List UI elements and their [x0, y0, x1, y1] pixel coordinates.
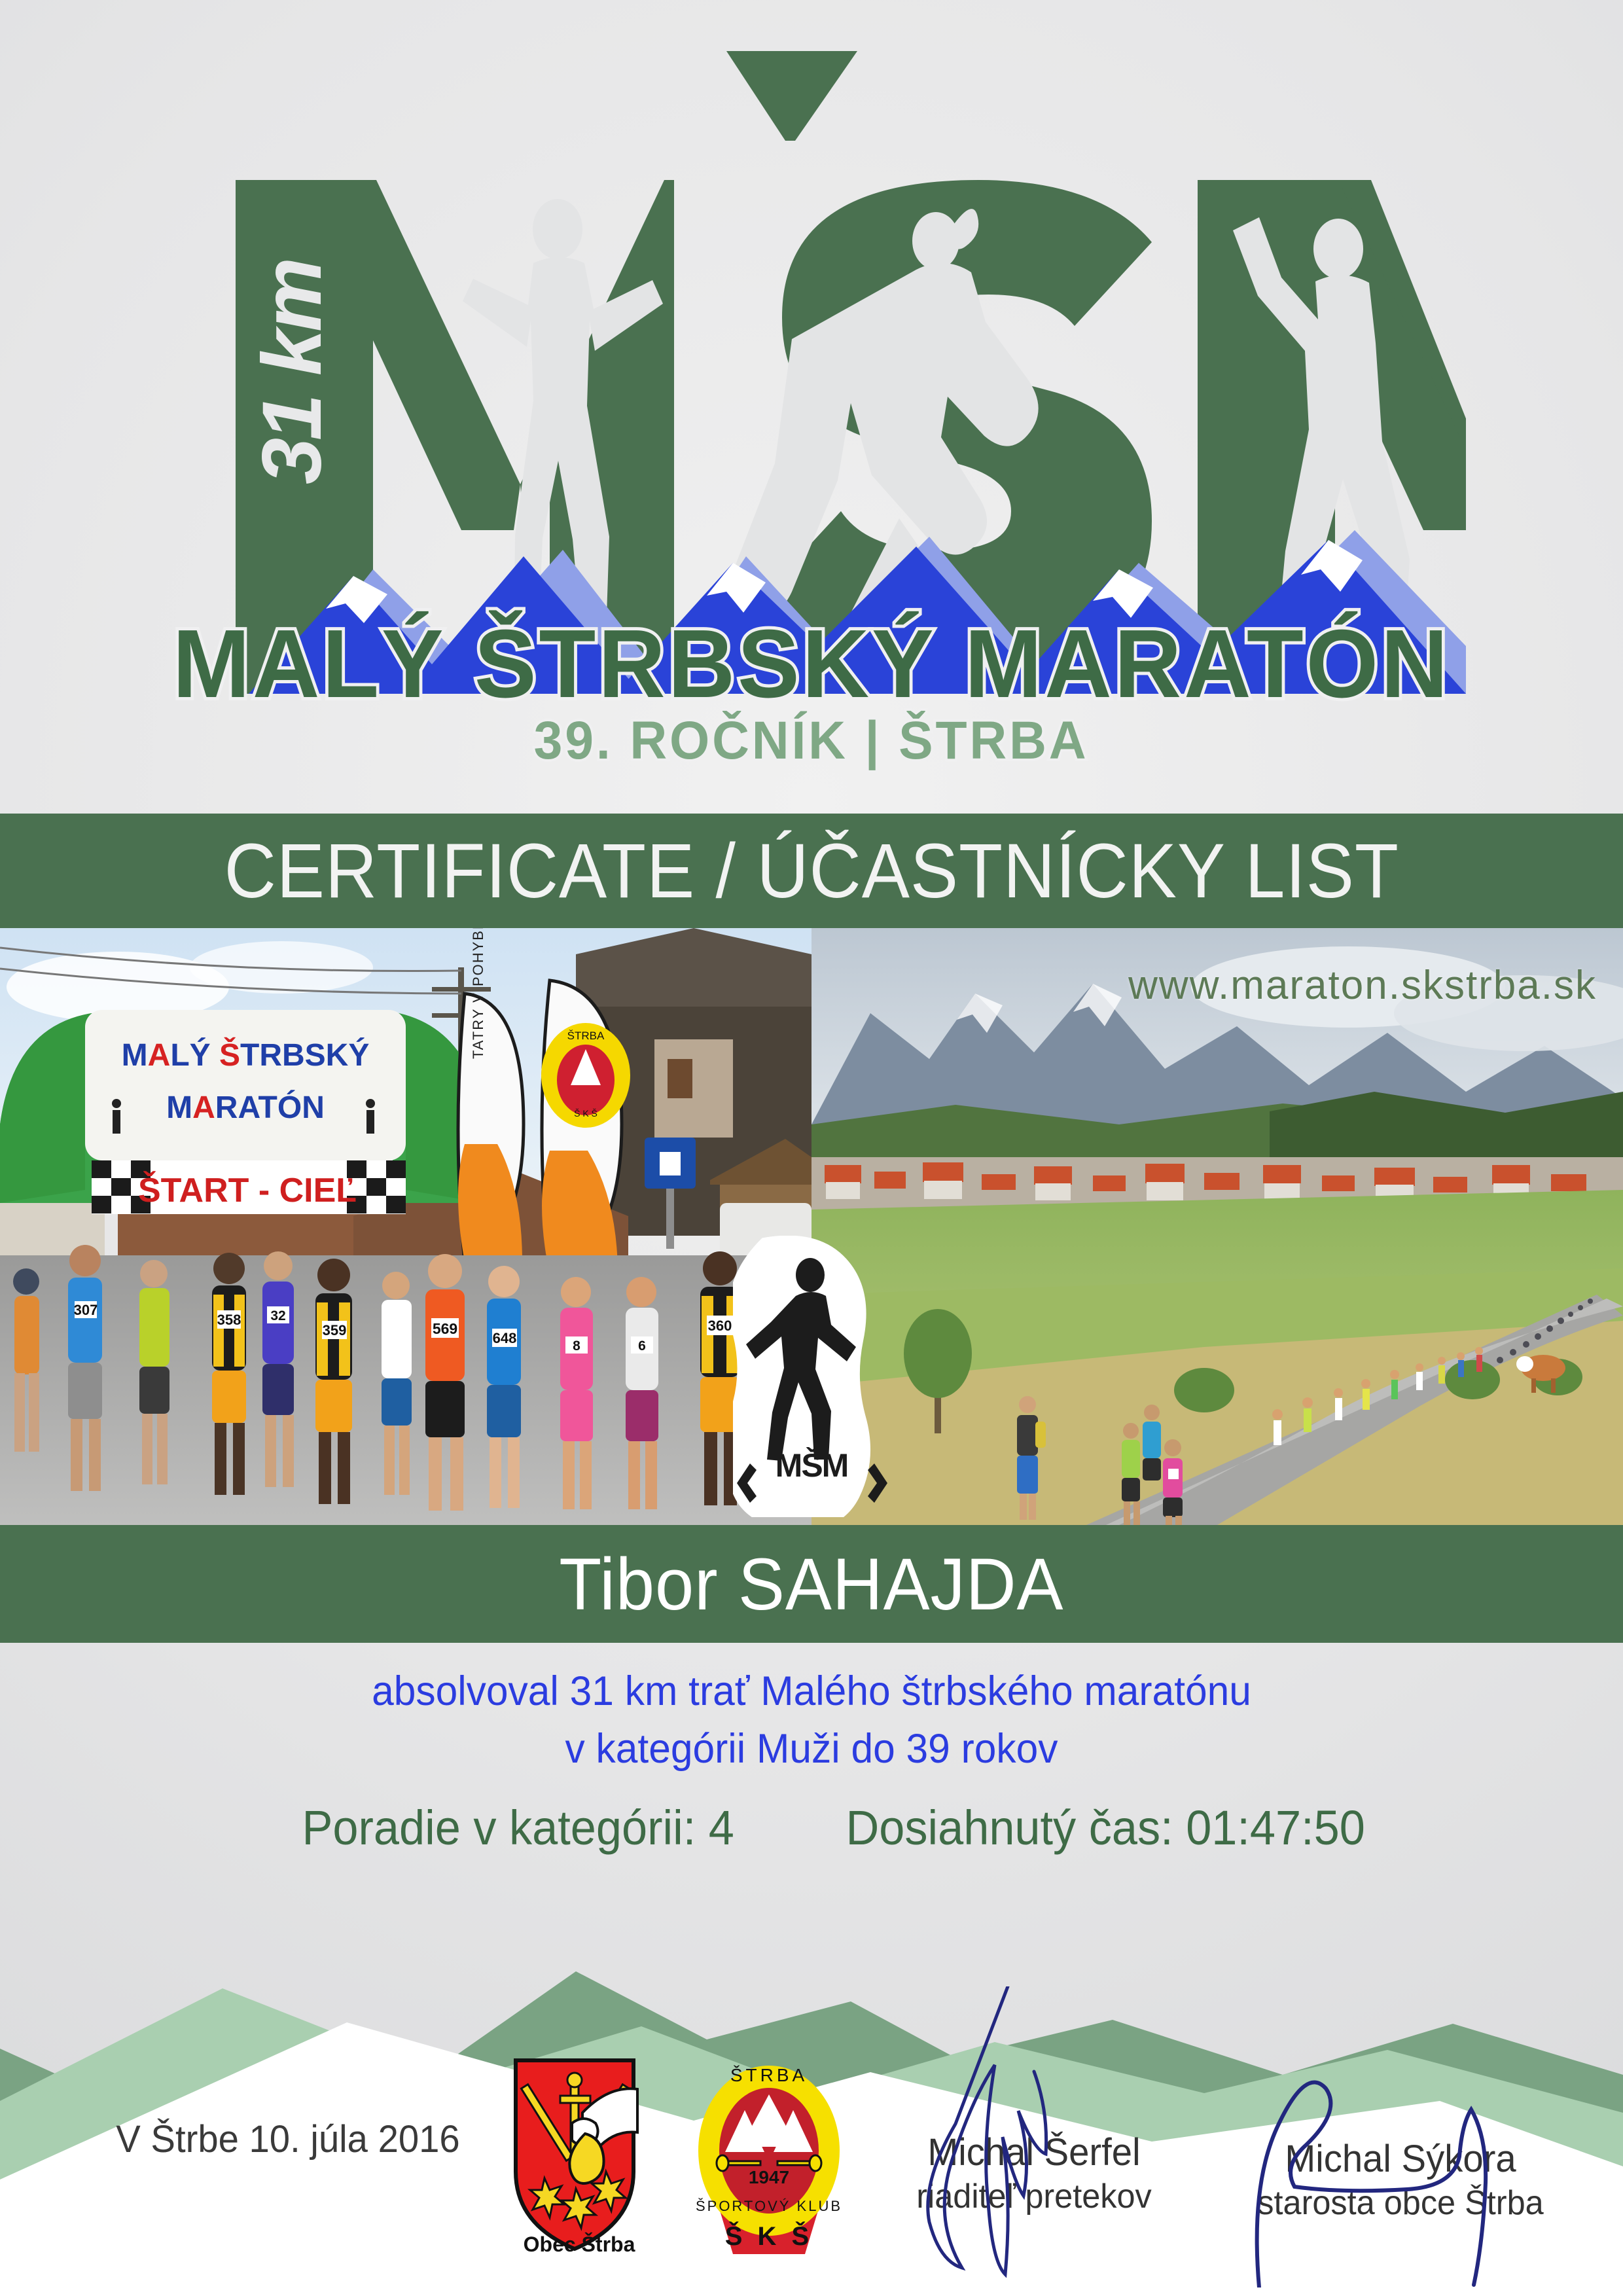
participant-name-band: Tibor SAHAJDA [0, 1525, 1623, 1643]
foreground-runner-blue [1143, 1405, 1161, 1480]
club-top-text: ŠTRBA [730, 2065, 808, 2085]
website-url: www.maraton.skstrba.sk [1128, 962, 1597, 1009]
bib-number: 569 [433, 1320, 457, 1337]
club-ring-text: ŠPORTOVÝ KLUB [696, 2198, 842, 2214]
event-name: MALÝ ŠTRBSKÝ MARATÓN [0, 609, 1623, 720]
arch-line1: MALÝ ŠTRBSKÝ [122, 1037, 370, 1073]
bib-number: 32 [270, 1308, 285, 1323]
svg-text:TATRY V POHYBE: TATRY V POHYBE [470, 928, 486, 1059]
bib-number: 6 [638, 1338, 646, 1354]
bib-number: 8 [573, 1338, 580, 1354]
signatory-role: riaditeľ pretekov [856, 2175, 1211, 2218]
detail-line-1: absolvoval 31 km trať Malého štrbského m… [33, 1662, 1591, 1720]
edition-line: 39. ROČNÍK | ŠTRBA [0, 710, 1623, 772]
certificate-title: CERTIFICATE / ÚČASTNÍCKY LIST [224, 827, 1399, 916]
bib-number: 307 [74, 1302, 98, 1318]
rank-in-category: Poradie v kategórii: 4 [147, 1800, 743, 1856]
photo-countryside: www.maraton.skstrba.sk [811, 928, 1623, 1525]
participant-details: absolvoval 31 km trať Malého štrbského m… [0, 1662, 1623, 1778]
caron-icon [726, 51, 857, 141]
svg-text:31 km: 31 km [245, 260, 339, 484]
certificate-title-band: CERTIFICATE / ÚČASTNÍCKY LIST [0, 814, 1623, 928]
bib-number: 360 [708, 1318, 732, 1334]
crest-caption: Obec Štrba [524, 2233, 635, 2256]
finish-time: Dosiahnutý čas: 01:47:50 [777, 1800, 1474, 1856]
bib-number: 359 [323, 1322, 347, 1338]
signatory-name: Michal Sýkora [1222, 2137, 1578, 2181]
logo-block: 31 km [0, 0, 1623, 814]
participant-name: Tibor SAHAJDA [559, 1542, 1063, 1626]
start-finish-banner: ŠTART - CIEĽ [138, 1171, 357, 1210]
certificate-page: 31 km [0, 0, 1623, 2296]
svg-text:Š K Š: Š K Š [574, 1108, 597, 1119]
svg-text:ŠTRBA: ŠTRBA [567, 1030, 605, 1042]
issue-date: V Štrbe 10. júla 2016 [85, 2117, 491, 2161]
signatory-role: starosta obce Štrba [1222, 2181, 1578, 2225]
photo-strip: MALÝ ŠTRBSKÝ MARATÓN ŠTART - CIEĽ [0, 928, 1623, 1525]
club-year: 1947 [749, 2167, 789, 2187]
signature-block-mayor: Michal Sýkora starosta obce Štrba [1217, 2137, 1584, 2225]
photo-race-start: MALÝ ŠTRBSKÝ MARATÓN ŠTART - CIEĽ [0, 928, 811, 1525]
club-abbrev: Š K Š [725, 2221, 813, 2251]
event-name-text: MALÝ ŠTRBSKÝ MARATÓN [173, 609, 1451, 720]
foreground-runner-pink [1163, 1439, 1183, 1525]
arch-line2: MARATÓN [166, 1089, 325, 1125]
signatory-name: Michal Šerfel [856, 2130, 1211, 2175]
detail-line-2: v kategórii Muži do 39 rokov [33, 1720, 1591, 1778]
obec-strba-crest: Obec Štrba [504, 2055, 654, 2258]
msm-runner-sticker: MŠM [733, 1236, 897, 1517]
svg-text:MŠM: MŠM [776, 1446, 848, 1484]
edition-text: 39. ROČNÍK | ŠTRBA [534, 710, 1089, 772]
participant-results: Poradie v kategórii: 4 Dosiahnutý čas: 0… [0, 1800, 1623, 1856]
sks-club-logo: ŠTRBA 1947 ŠPORTOVÝ KLUB Š K Š [694, 2047, 844, 2257]
signature-block-race-director: Michal Šerfel riaditeľ pretekov [851, 2130, 1217, 2218]
club-logo-flag: ŠTRBA Š K Š [541, 1023, 630, 1128]
msm-logo: 31 km [157, 33, 1466, 694]
distance-left-label: 31 km [245, 260, 339, 484]
bib-number: 648 [493, 1330, 517, 1346]
bib-number: 358 [217, 1312, 241, 1328]
